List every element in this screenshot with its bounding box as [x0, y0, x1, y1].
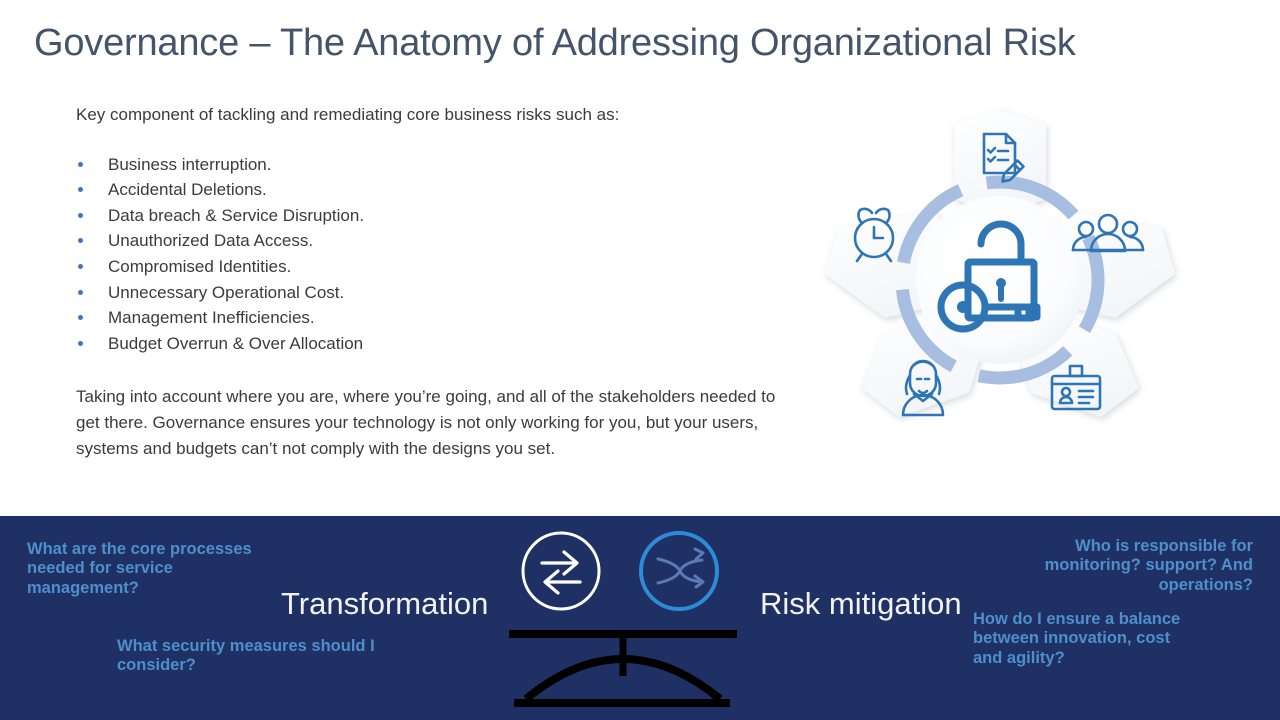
question-responsible-monitoring: Who is responsible for monitoring? suppo… — [1000, 537, 1253, 595]
bullet-icon — [78, 341, 83, 346]
question-core-processes: What are the core processes needed for s… — [27, 540, 267, 598]
bullet-icon — [78, 290, 83, 295]
list-item: Unauthorized Data Access. — [76, 228, 806, 254]
body-content: Key component of tackling and remediatin… — [76, 103, 806, 461]
bullet-icon — [78, 315, 83, 320]
lead-sentence: Key component of tackling and remediatin… — [76, 103, 806, 128]
list-item-label: Budget Overrun & Over Allocation — [108, 334, 363, 353]
bridge-graphic — [500, 527, 745, 712]
list-item: Management Inefficiencies. — [76, 305, 806, 331]
list-item: Budget Overrun & Over Allocation — [76, 331, 806, 357]
list-item: Compromised Identities. — [76, 254, 806, 280]
list-item-label: Unnecessary Operational Cost. — [108, 283, 344, 302]
bullet-icon — [78, 238, 83, 243]
risk-list: Business interruption. Accidental Deleti… — [76, 152, 806, 357]
list-item-label: Data breach & Service Disruption. — [108, 206, 364, 225]
list-item-label: Business interruption. — [108, 155, 271, 174]
bullet-icon — [78, 264, 83, 269]
question-balance-innovation: How do I ensure a balance between innova… — [973, 610, 1183, 668]
closing-paragraph: Taking into account where you are, where… — [76, 384, 791, 461]
list-item-label: Management Inefficiencies. — [108, 308, 315, 327]
list-item: Unnecessary Operational Cost. — [76, 280, 806, 306]
list-item-label: Compromised Identities. — [108, 257, 291, 276]
question-security-measures: What security measures should I consider… — [117, 637, 407, 676]
list-item: Data breach & Service Disruption. — [76, 203, 806, 229]
bullet-icon — [78, 162, 83, 167]
governance-petal-diagram — [818, 98, 1182, 462]
list-item: Accidental Deletions. — [76, 177, 806, 203]
slide-canvas: Governance – The Anatomy of Addressing O… — [0, 0, 1280, 720]
exchange-arrows-icon — [523, 533, 599, 609]
list-item-label: Accidental Deletions. — [108, 180, 267, 199]
label-risk-mitigation: Risk mitigation — [760, 586, 962, 622]
bridge-shape — [509, 634, 737, 703]
bullet-icon — [78, 213, 83, 218]
bullet-icon — [78, 187, 83, 192]
list-item: Business interruption. — [76, 152, 806, 178]
list-item-label: Unauthorized Data Access. — [108, 231, 313, 250]
page-title: Governance – The Anatomy of Addressing O… — [34, 20, 1154, 68]
shuffle-arrows-icon — [641, 533, 717, 609]
label-transformation: Transformation — [281, 586, 488, 622]
